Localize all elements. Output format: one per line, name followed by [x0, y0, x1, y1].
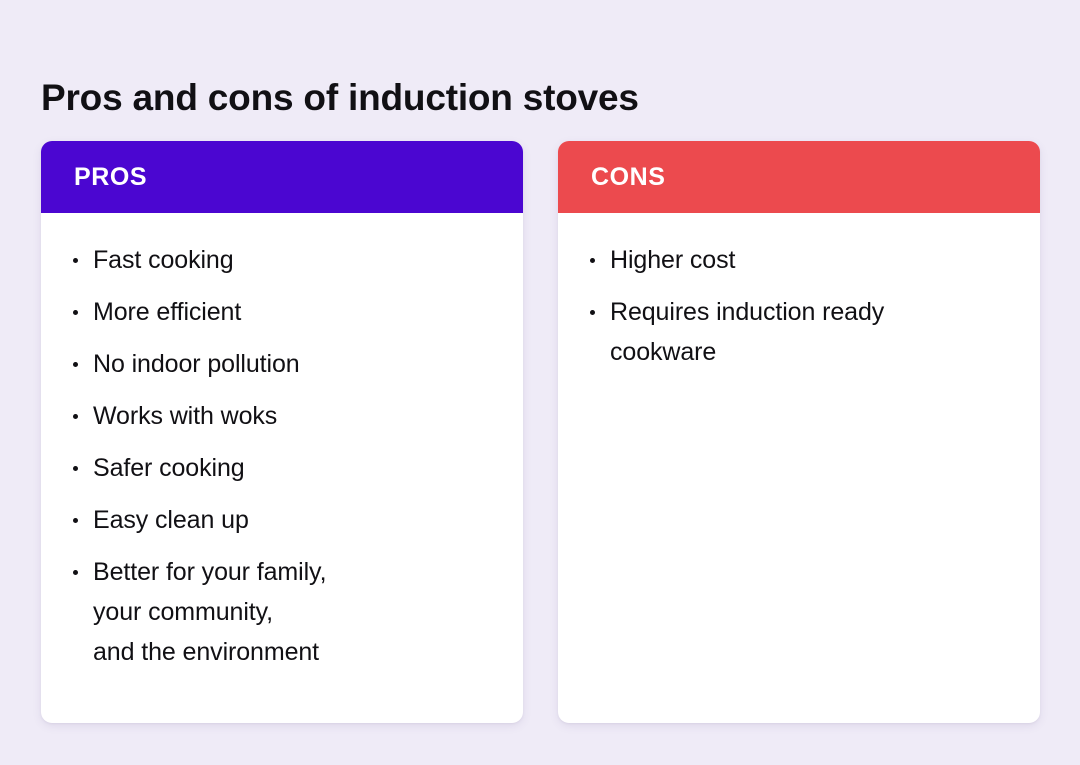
list-item-line: your community,	[93, 592, 497, 632]
list-item-line: Works with woks	[93, 396, 497, 436]
list-item-line: Safer cooking	[93, 448, 497, 488]
list-item: No indoor pollution	[67, 344, 497, 384]
cons-list: Higher cost Requires induction ready coo…	[584, 240, 1014, 372]
list-item-line: Requires induction ready	[610, 292, 1014, 332]
card-header-label-pros: PROS	[74, 163, 147, 192]
bullet-dot-icon	[590, 258, 595, 263]
list-item: Easy clean up	[67, 500, 497, 540]
list-item-line: Fast cooking	[93, 240, 497, 280]
bullet-dot-icon	[73, 258, 78, 263]
bullet-dot-icon	[73, 414, 78, 419]
card-pros: PROS Fast cooking More efficient No indo…	[41, 141, 523, 723]
card-body-cons: Higher cost Requires induction ready coo…	[558, 213, 1040, 723]
pros-list: Fast cooking More efficient No indoor po…	[67, 240, 497, 672]
card-cons: CONS Higher cost Requires induction read…	[558, 141, 1040, 723]
list-item: Fast cooking	[67, 240, 497, 280]
comparison-cards: PROS Fast cooking More efficient No indo…	[41, 141, 1040, 723]
bullet-dot-icon	[73, 518, 78, 523]
list-item: Higher cost	[584, 240, 1014, 280]
bullet-dot-icon	[73, 362, 78, 367]
list-item: Works with woks	[67, 396, 497, 436]
list-item: More efficient	[67, 292, 497, 332]
list-item-line: Easy clean up	[93, 500, 497, 540]
list-item: Better for your family, your community, …	[67, 552, 497, 672]
list-item-line: Better for your family,	[93, 552, 497, 592]
list-item: Requires induction ready cookware	[584, 292, 1014, 372]
card-header-pros: PROS	[41, 141, 523, 213]
bullet-dot-icon	[590, 310, 595, 315]
list-item: Safer cooking	[67, 448, 497, 488]
page-title: Pros and cons of induction stoves	[41, 77, 639, 118]
bullet-dot-icon	[73, 570, 78, 575]
bullet-dot-icon	[73, 466, 78, 471]
card-header-label-cons: CONS	[591, 163, 665, 192]
list-item-line: Higher cost	[610, 240, 1014, 280]
card-header-cons: CONS	[558, 141, 1040, 213]
list-item-line: cookware	[610, 332, 1014, 372]
infographic-page: Pros and cons of induction stoves PROS F…	[0, 0, 1080, 765]
card-body-pros: Fast cooking More efficient No indoor po…	[41, 213, 523, 723]
list-item-line: No indoor pollution	[93, 344, 497, 384]
bullet-dot-icon	[73, 310, 78, 315]
list-item-line: and the environment	[93, 632, 497, 672]
list-item-line: More efficient	[93, 292, 497, 332]
